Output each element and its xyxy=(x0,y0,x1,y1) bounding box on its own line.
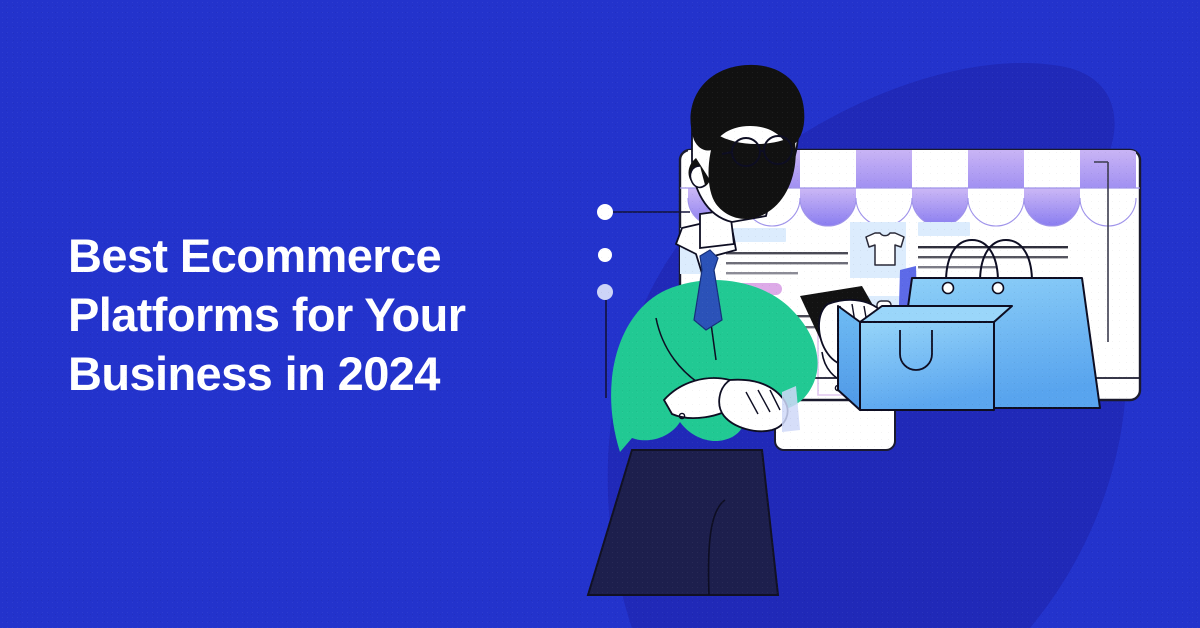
page-title: Best Ecommerce Platforms for Your Busine… xyxy=(68,226,588,403)
decor-dot-3 xyxy=(597,284,613,300)
decor-dot-2 xyxy=(598,248,612,262)
headline-line-1: Best Ecommerce xyxy=(68,226,588,285)
headline-block: Best Ecommerce Platforms for Your Busine… xyxy=(68,226,588,403)
hero-banner: Best Ecommerce Platforms for Your Busine… xyxy=(0,0,1200,628)
ecommerce-illustration xyxy=(560,0,1200,628)
headline-line-2: Platforms for Your xyxy=(68,285,588,344)
shopping-bag-front xyxy=(838,306,1012,410)
decor-dot-1 xyxy=(597,204,613,220)
headline-line-3: Business in 2024 xyxy=(68,344,588,403)
